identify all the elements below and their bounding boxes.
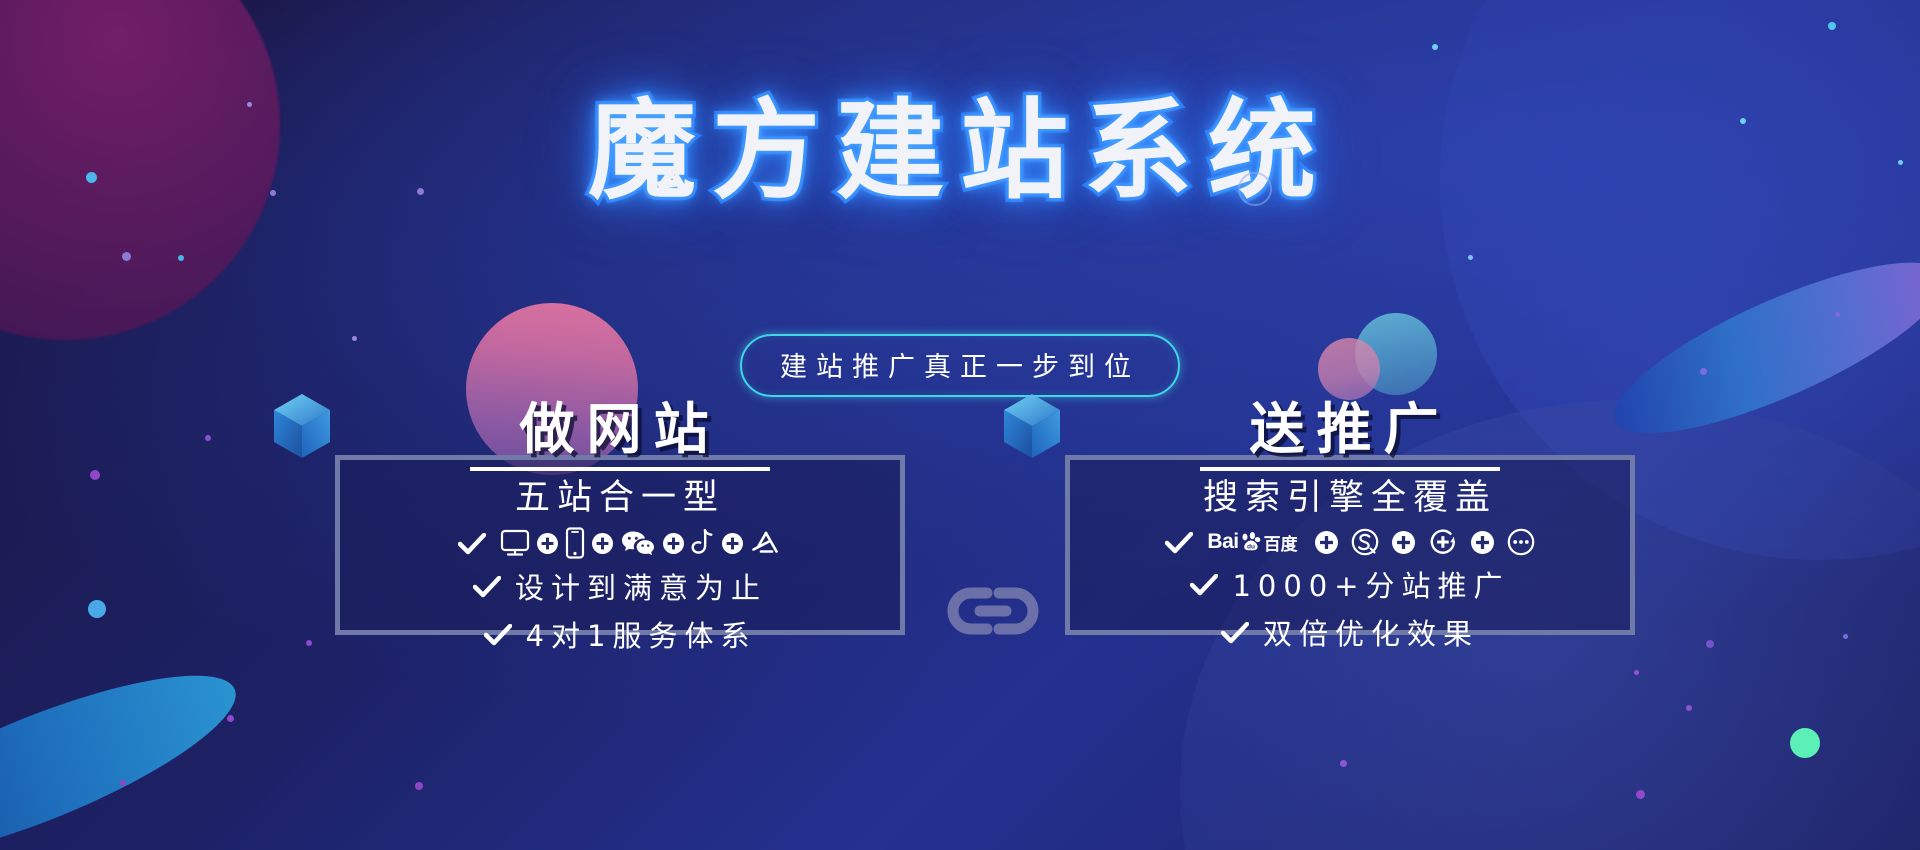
- 360-icon: [1428, 527, 1458, 557]
- cube-icon: [268, 390, 336, 462]
- plus-icon: [1471, 531, 1494, 554]
- star-dot: [1706, 640, 1714, 648]
- music-note-icon: [691, 528, 715, 558]
- feature-row-subsites: 1000+分站推广: [1190, 563, 1509, 605]
- feature-row-double-effect: 双倍优化效果: [1221, 611, 1479, 653]
- check-icon: [1221, 622, 1249, 642]
- smartphone-icon: [565, 527, 585, 559]
- cyan-sphere-decoration: [1355, 313, 1437, 395]
- plus-icon: [663, 533, 684, 554]
- star-dot: [1843, 634, 1848, 639]
- page-title: 魔方建站系统: [588, 92, 1332, 213]
- star-dot: [1686, 705, 1692, 711]
- star-dot: [1468, 255, 1473, 260]
- card-subheading: 五站合一型: [515, 478, 725, 518]
- star-dot: [227, 715, 234, 722]
- monitor-icon: [500, 529, 530, 557]
- feature-row-design: 设计到满意为止: [473, 565, 767, 607]
- feature-label: 1000+分站推广: [1232, 563, 1509, 605]
- sogou-icon: [1351, 528, 1379, 556]
- star-dot: [1790, 728, 1820, 758]
- feature-row-platforms: [458, 527, 782, 559]
- app-store-icon: [750, 530, 782, 556]
- star-dot: [1432, 44, 1438, 50]
- card-divider: [470, 467, 770, 471]
- star-dot: [178, 255, 184, 261]
- card-body-right: 送推广 搜索引擎全覆盖 Bai du: [1070, 402, 1630, 656]
- chain-link-icon: [945, 585, 1041, 642]
- check-icon: [1165, 532, 1193, 552]
- gradient-streak-right: [1596, 231, 1920, 465]
- subtitle-text: 建站推广真正一步到位: [780, 345, 1140, 384]
- ring-decoration: [1238, 172, 1272, 206]
- star-dot: [352, 336, 357, 341]
- star-dot: [1634, 670, 1639, 675]
- check-icon: [1190, 574, 1218, 594]
- feature-label: 双倍优化效果: [1263, 611, 1479, 653]
- plus-icon: [1315, 531, 1338, 554]
- plus-icon: [592, 533, 613, 554]
- wechat-icon: [620, 529, 656, 557]
- star-dot: [1700, 368, 1707, 375]
- main-title-wrap: 魔方建站系统: [0, 92, 1920, 213]
- star-dot: [88, 600, 106, 618]
- promo-banner: 魔方建站系统 建站推广真正一步到位: [0, 0, 1920, 850]
- card-make-website[interactable]: 做网站 五站合一型: [335, 455, 905, 635]
- feature-row-service: 4对1服务体系: [484, 613, 757, 655]
- feature-label: 设计到满意为止: [515, 565, 767, 607]
- star-dot: [205, 435, 211, 441]
- star-dot: [415, 782, 423, 790]
- card-body-left: 做网站 五站合一型: [340, 402, 900, 658]
- star-dot: [120, 780, 126, 786]
- feature-row-search-engines: Bai du 百度: [1165, 527, 1534, 557]
- subtitle-pill: 建站推广真正一步到位: [740, 334, 1180, 397]
- card-subheading: 搜索引擎全覆盖: [1203, 478, 1497, 518]
- card-divider: [1200, 467, 1500, 471]
- card-heading: 做网站: [519, 402, 720, 464]
- check-icon: [484, 624, 512, 644]
- star-dot: [1835, 312, 1840, 317]
- baidu-logo-icon: Bai du 百度: [1207, 530, 1297, 555]
- gradient-streak-left: [0, 641, 254, 850]
- baidu-cn-text: 百度: [1264, 530, 1298, 555]
- star-dot: [90, 470, 100, 480]
- more-dots-icon: [1507, 528, 1535, 556]
- plus-icon: [537, 533, 558, 554]
- card-free-promotion[interactable]: 送推广 搜索引擎全覆盖 Bai du: [1065, 455, 1635, 635]
- baidu-latin-text: Bai: [1207, 530, 1238, 554]
- plus-icon: [1392, 531, 1415, 554]
- star-dot: [1828, 22, 1836, 30]
- platform-icon-row: [500, 527, 782, 559]
- star-dot: [122, 252, 131, 261]
- rose-sphere-decoration: [1318, 338, 1380, 400]
- star-dot: [1636, 790, 1645, 799]
- star-dot: [1340, 760, 1347, 767]
- star-dot: [306, 640, 312, 646]
- svg-text:du: du: [1247, 544, 1255, 551]
- card-heading: 送推广: [1249, 402, 1450, 464]
- search-engine-icon-row: Bai du 百度: [1207, 527, 1534, 557]
- feature-label: 4对1服务体系: [526, 613, 757, 655]
- check-icon: [473, 576, 501, 596]
- check-icon: [458, 533, 486, 553]
- plus-icon: [722, 533, 743, 554]
- cube-icon: [998, 390, 1066, 462]
